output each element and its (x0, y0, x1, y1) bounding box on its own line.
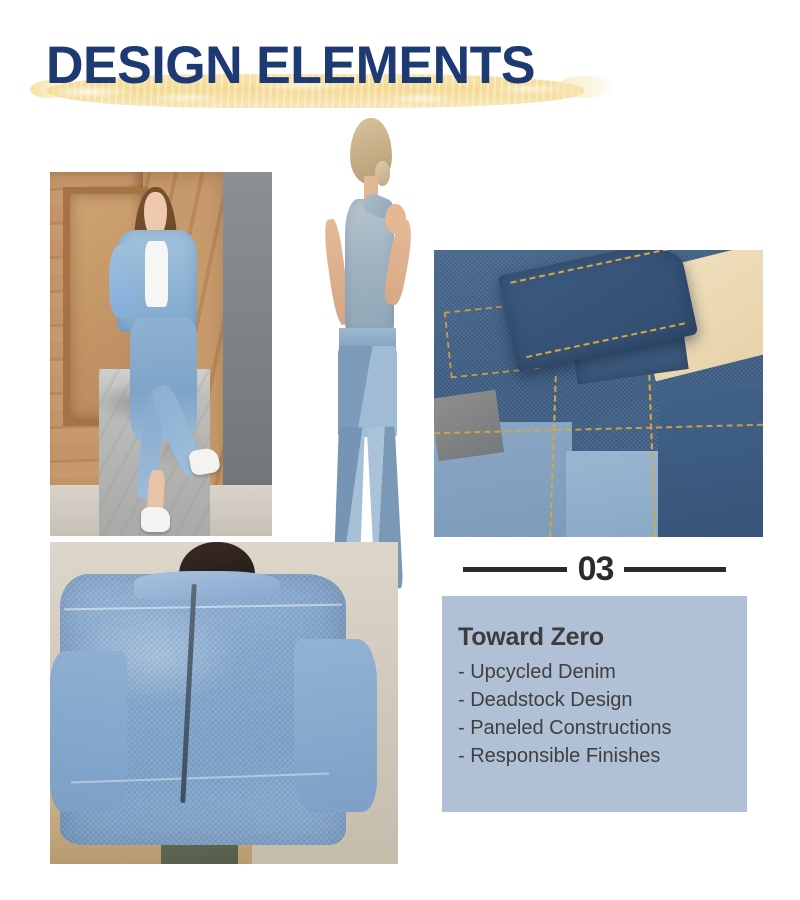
info-panel-heading: Toward Zero (458, 622, 747, 652)
denim-dark-panel (658, 388, 763, 537)
info-panel: Toward Zero - Upcycled Denim - Deadstock… (442, 596, 747, 812)
divider-rule-right (624, 567, 726, 572)
photo-denim-shirt-sleeve (109, 245, 133, 318)
model-jeans-hip (338, 346, 398, 437)
denim-jacket-right-sleeve (294, 639, 378, 813)
photo-grey-panel (223, 172, 272, 536)
info-panel-bullet-list: - Upcycled Denim - Deadstock Design - Pa… (458, 658, 747, 770)
image-lookbook-denim-shirt-and-jeans (50, 172, 272, 536)
list-item: - Paneled Constructions (458, 714, 747, 742)
section-number: 03 (578, 552, 614, 586)
denim-grey-patch (434, 389, 504, 461)
list-item: - Responsible Finishes (458, 742, 747, 770)
image-denim-jacket-back-view (50, 542, 398, 864)
denim-jacket-left-sleeve (50, 651, 127, 812)
image-denim-construction-detail (434, 250, 763, 537)
denim-jacket-collar (134, 571, 280, 600)
section-number-divider: 03 (442, 551, 747, 587)
divider-rule-left (463, 567, 567, 572)
denim-mid-panel (566, 451, 665, 537)
page-header: DESIGN ELEMENTS (0, 0, 800, 120)
list-item: - Upcycled Denim (458, 658, 747, 686)
photo-white-tee (145, 241, 167, 307)
photo-white-sneaker-left (141, 507, 170, 532)
page-title: DESIGN ELEMENTS (46, 36, 535, 96)
list-item: - Deadstock Design (458, 686, 747, 714)
slide-canvas: DESIGN ELEMENTS (0, 0, 800, 900)
